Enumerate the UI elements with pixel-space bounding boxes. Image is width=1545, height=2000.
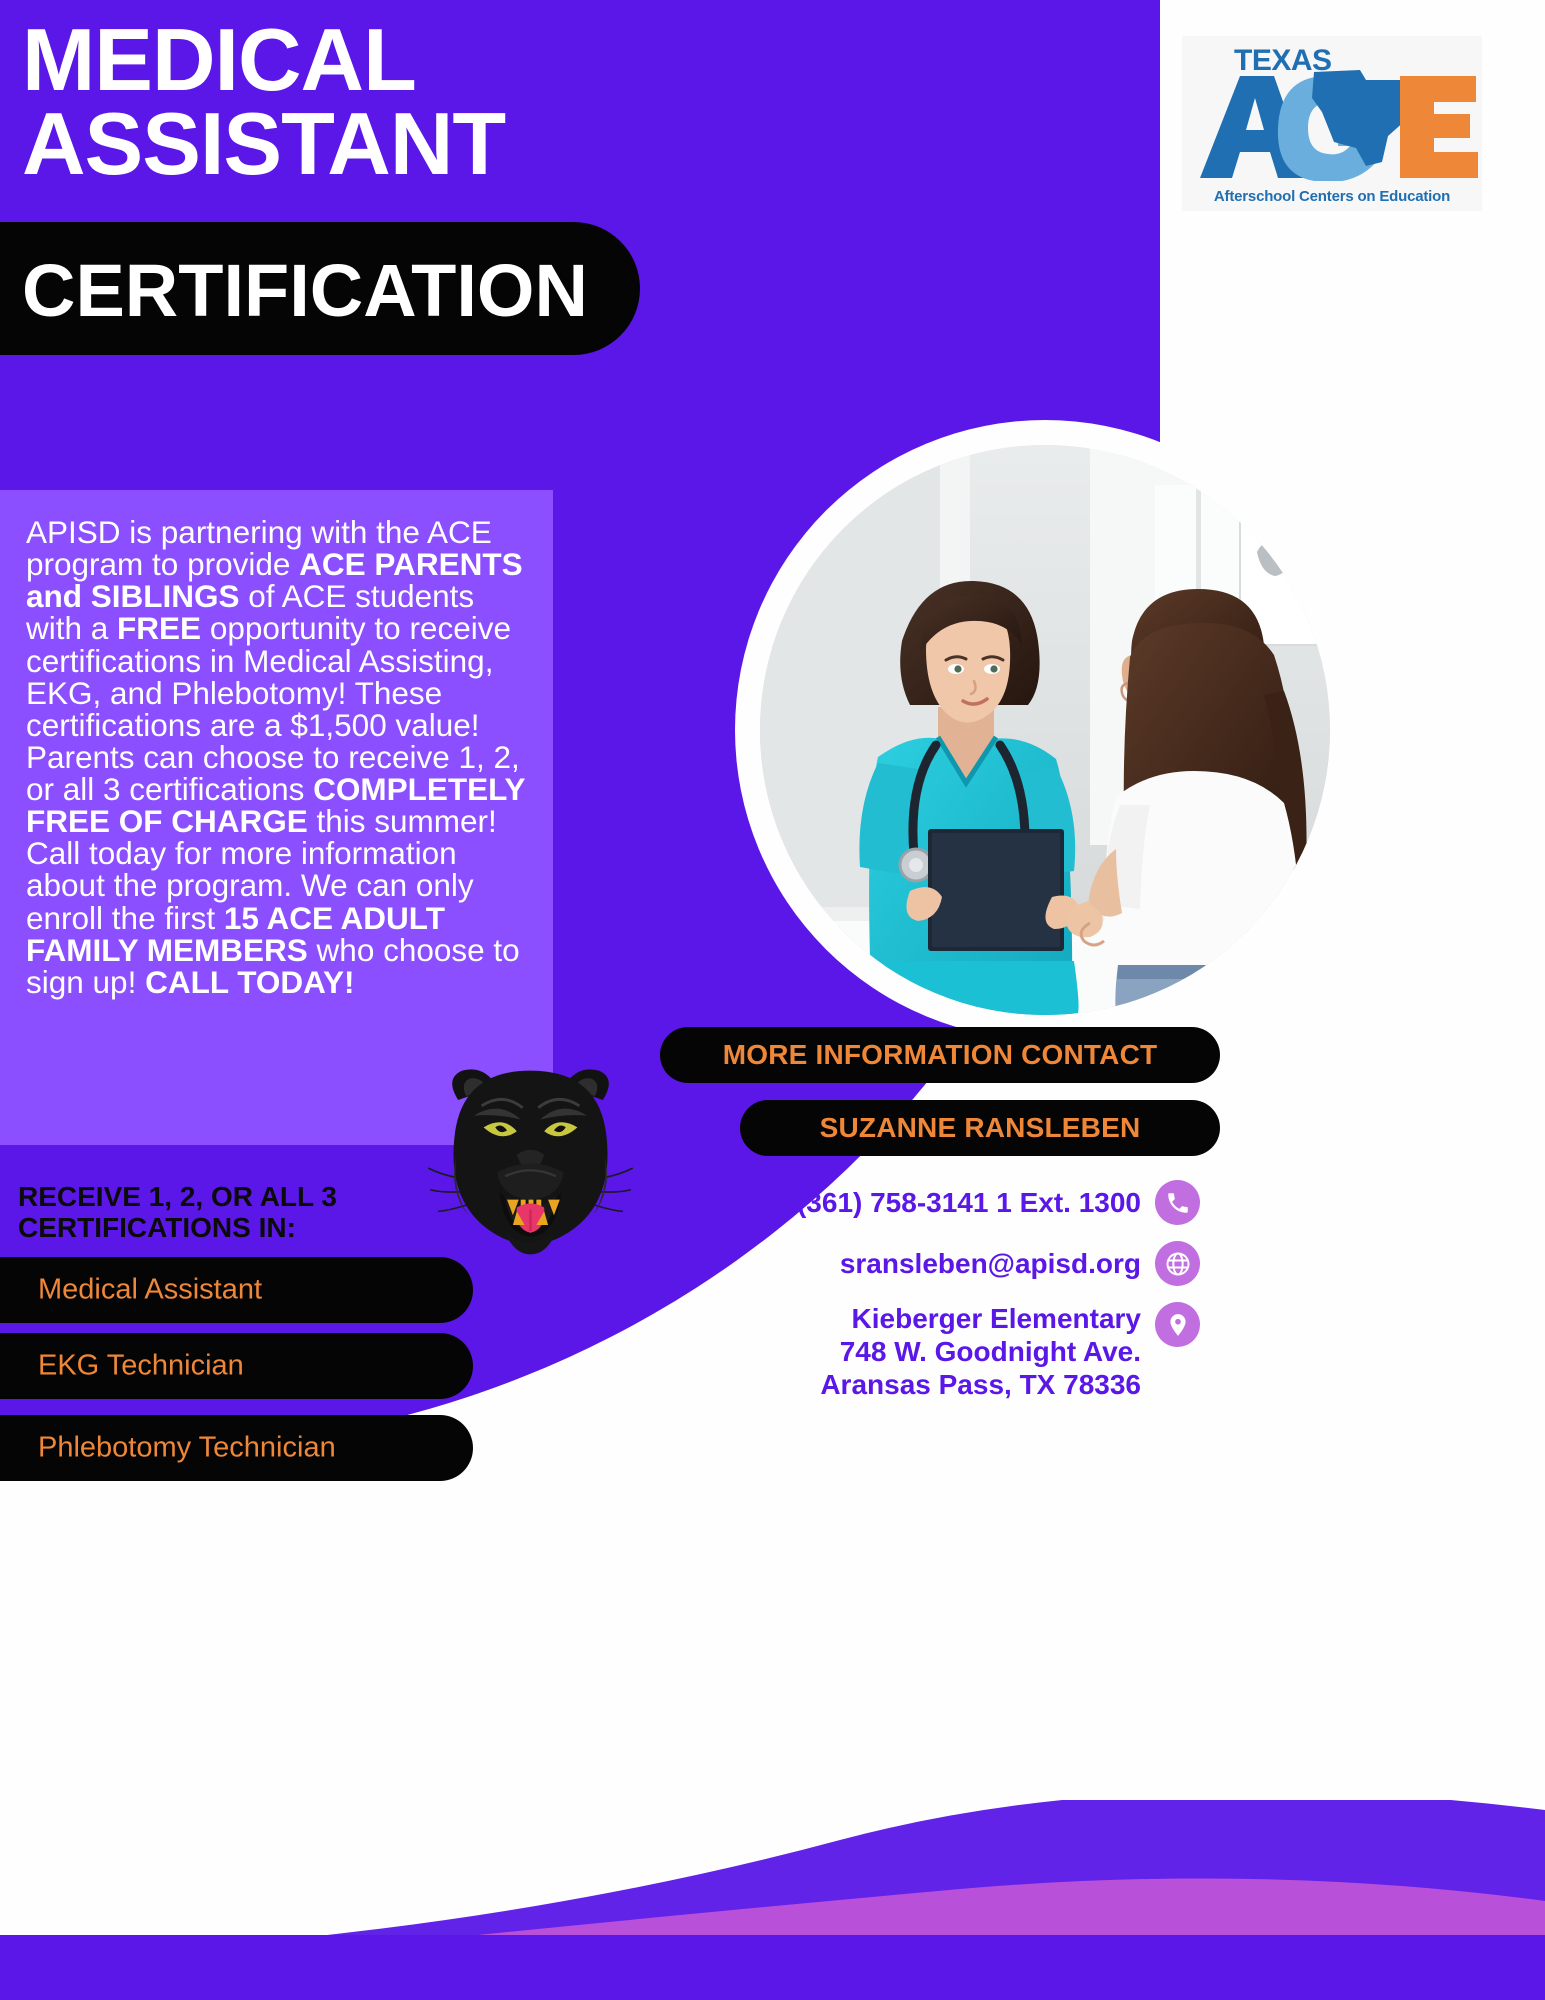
- contact-name-banner: SUZANNE RANSLEBEN: [740, 1100, 1220, 1156]
- certification-label: CERTIFICATION: [22, 248, 588, 333]
- certification-item-ekg-technician[interactable]: EKG Technician: [0, 1333, 473, 1399]
- contact-details: (361) 758-3141 1 Ext. 1300 sransleben@ap…: [700, 1180, 1200, 1417]
- title-line-2: ASSISTANT: [22, 102, 505, 186]
- phone-number: (361) 758-3141 1 Ext. 1300: [797, 1186, 1141, 1219]
- more-information-label: MORE INFORMATION CONTACT: [723, 1039, 1158, 1071]
- certification-item-phlebotomy-technician[interactable]: Phlebotomy Technician: [0, 1415, 473, 1481]
- description-emphasis: CALL TODAY!: [145, 964, 354, 1000]
- certifications-heading: RECEIVE 1, 2, OR ALL 3 CERTIFICATIONS IN…: [18, 1182, 337, 1244]
- clinic-photo: [760, 445, 1330, 1015]
- flyer-title: MEDICAL ASSISTANT: [22, 18, 505, 185]
- email-address: sransleben@apisd.org: [840, 1247, 1141, 1280]
- logo-tagline: Afterschool Centers on Education: [1182, 188, 1482, 205]
- address-block: Kieberger Elementary 748 W. Goodnight Av…: [820, 1302, 1141, 1401]
- contact-row-address[interactable]: Kieberger Elementary 748 W. Goodnight Av…: [700, 1302, 1200, 1401]
- contact-row-phone[interactable]: (361) 758-3141 1 Ext. 1300: [700, 1180, 1200, 1225]
- description-emphasis: FREE: [117, 610, 201, 646]
- title-line-1: MEDICAL: [22, 18, 505, 102]
- clinic-photo-illustration: [760, 445, 1330, 1015]
- certification-item-label: Medical Assistant: [38, 1274, 262, 1307]
- contact-name-label: SUZANNE RANSLEBEN: [820, 1112, 1141, 1144]
- address-line-2: 748 W. Goodnight Ave.: [820, 1335, 1141, 1368]
- description-text: APISD is partnering with the ACE program…: [26, 516, 527, 998]
- location-pin-icon: [1155, 1302, 1200, 1347]
- certification-item-medical-assistant[interactable]: Medical Assistant: [0, 1257, 473, 1323]
- black-panther-head-icon: [423, 1055, 638, 1270]
- certifications-heading-line-1: RECEIVE 1, 2, OR ALL 3: [18, 1182, 337, 1213]
- certification-item-label: EKG Technician: [38, 1350, 244, 1383]
- more-information-banner: MORE INFORMATION CONTACT: [660, 1027, 1220, 1083]
- certification-banner: CERTIFICATION: [0, 222, 640, 355]
- phone-icon: [1155, 1180, 1200, 1225]
- bottom-purple-bar: [0, 1935, 1545, 2000]
- address-line-3: Aransas Pass, TX 78336: [820, 1368, 1141, 1401]
- logo-ace-letters-icon: [1182, 66, 1482, 181]
- contact-row-email[interactable]: sransleben@apisd.org: [700, 1241, 1200, 1286]
- certification-item-label: Phlebotomy Technician: [38, 1432, 336, 1465]
- globe-icon: [1155, 1241, 1200, 1286]
- address-line-1: Kieberger Elementary: [820, 1302, 1141, 1335]
- description-panel: APISD is partnering with the ACE program…: [0, 490, 553, 1145]
- certifications-heading-line-2: CERTIFICATIONS IN:: [18, 1213, 337, 1244]
- texas-ace-logo: TEXAS Afterschool Centers on Education: [1182, 36, 1482, 211]
